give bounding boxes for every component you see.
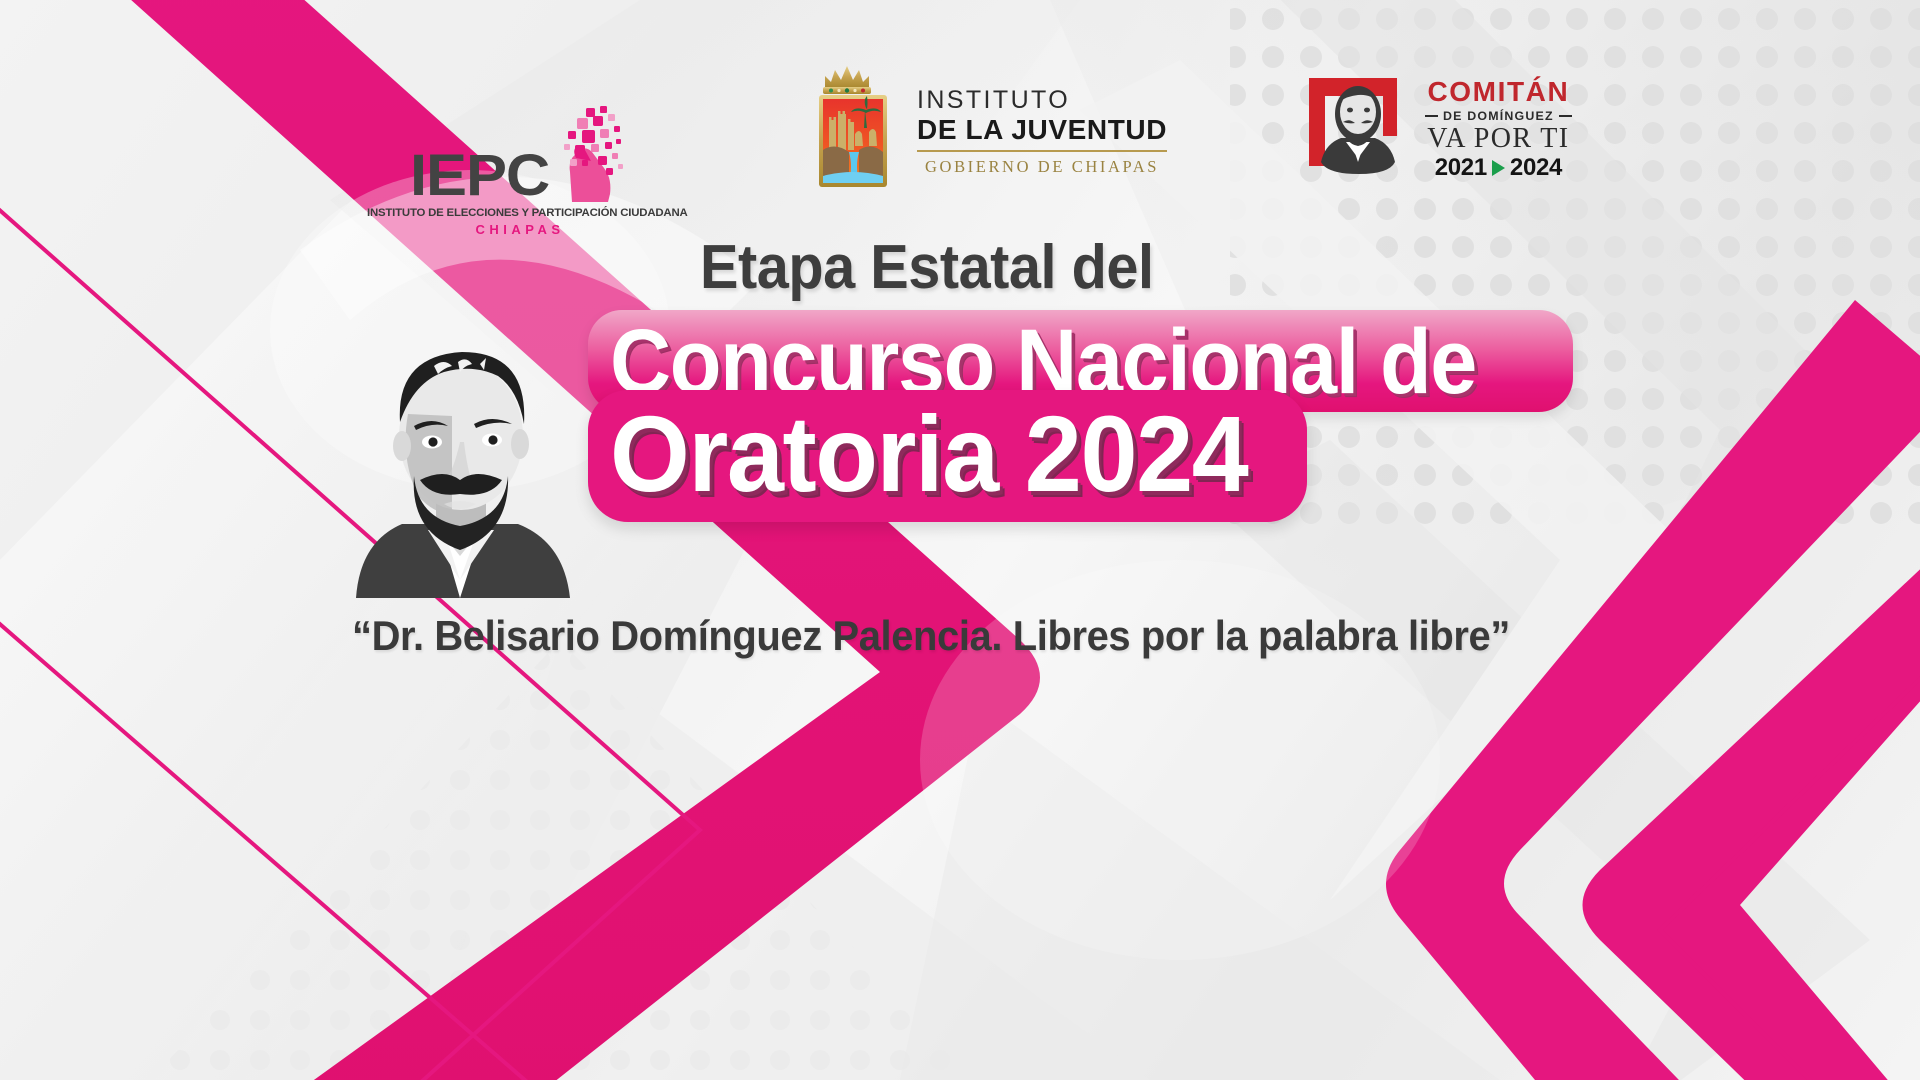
iepc-subtitle: INSTITUTO DE ELECCIONES Y PARTICIPACIÓN … xyxy=(367,207,673,219)
logo-row: IEPC xyxy=(0,48,1920,208)
comitan-years-row: 2021 2024 xyxy=(1425,154,1572,182)
iepc-mark: IEPC xyxy=(370,106,670,202)
comitan-line1: COMITÁN xyxy=(1425,78,1572,106)
logo-juventud: INSTITUTO DE LA JUVENTUD GOBIERNO DE CHI… xyxy=(805,58,1167,190)
play-triangle-icon xyxy=(1492,160,1505,176)
logo-comitan: COMITÁN DE DOMÍNGUEZ VA POR TI 2021 2024 xyxy=(1305,66,1572,184)
juventud-text: INSTITUTO DE LA JUVENTUD GOBIERNO DE CHI… xyxy=(917,71,1167,178)
main-title: Concurso Nacional de Oratoria 2024 xyxy=(588,310,1578,522)
juventud-line3: GOBIERNO DE CHIAPAS xyxy=(917,157,1167,177)
juventud-line1: INSTITUTO xyxy=(917,87,1167,115)
comitan-line3: VA POR TI xyxy=(1425,124,1572,153)
title-line2-plate: Oratoria 2024 xyxy=(588,390,1307,522)
poster-canvas: IEPC xyxy=(0,0,1920,1080)
comitan-year-end: 2024 xyxy=(1510,154,1562,182)
iepc-acronym: IEPC xyxy=(410,150,549,202)
chiapas-coat-of-arms-icon xyxy=(805,58,901,190)
belisario-dominguez-portrait xyxy=(348,318,578,598)
dash-left xyxy=(1425,115,1438,117)
comitan-line2-row: DE DOMÍNGUEZ xyxy=(1425,109,1572,123)
juventud-divider xyxy=(917,150,1167,152)
comitan-portrait-icon xyxy=(1305,66,1413,184)
title-eyebrow: Etapa Estatal del xyxy=(700,232,1154,303)
comitan-text: COMITÁN DE DOMÍNGUEZ VA POR TI 2021 2024 xyxy=(1425,66,1572,182)
iepc-hand-icon xyxy=(546,106,630,202)
crown-icon xyxy=(823,66,871,94)
comitan-line2: DE DOMÍNGUEZ xyxy=(1443,109,1554,123)
title-quote: “Dr. Belisario Domínguez Palencia. Libre… xyxy=(352,612,1510,660)
juventud-line2: DE LA JUVENTUD xyxy=(917,114,1167,145)
dash-right xyxy=(1559,115,1572,117)
iepc-state-label: CHIAPAS xyxy=(370,222,670,237)
comitan-year-start: 2021 xyxy=(1435,154,1487,182)
title-line2: Oratoria 2024 xyxy=(610,400,1247,508)
logo-iepc: IEPC xyxy=(370,106,670,237)
